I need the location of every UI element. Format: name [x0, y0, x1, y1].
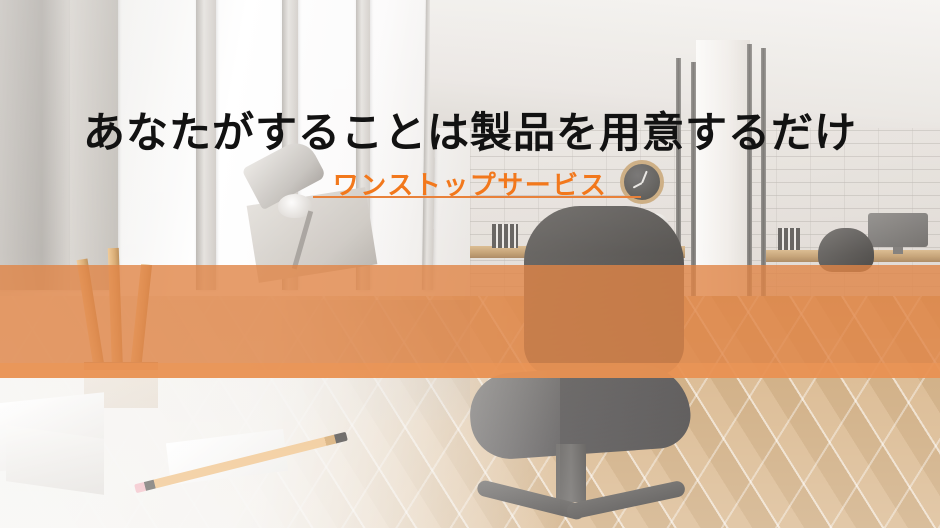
band-item-list: 発売前の市場調査 デザインページ の作成 メディアブランディング を立ち上げる … — [0, 265, 940, 378]
subtitle-underline — [313, 196, 641, 198]
slide-canvas: あなたがすることは製品を用意するだけ ワンストップサービス 発売前の市場調査 デ… — [0, 0, 940, 528]
page-title: あなたがすることは製品を用意するだけ — [0, 99, 940, 160]
global-light-overlay — [0, 0, 940, 528]
background-photo — [0, 0, 940, 528]
